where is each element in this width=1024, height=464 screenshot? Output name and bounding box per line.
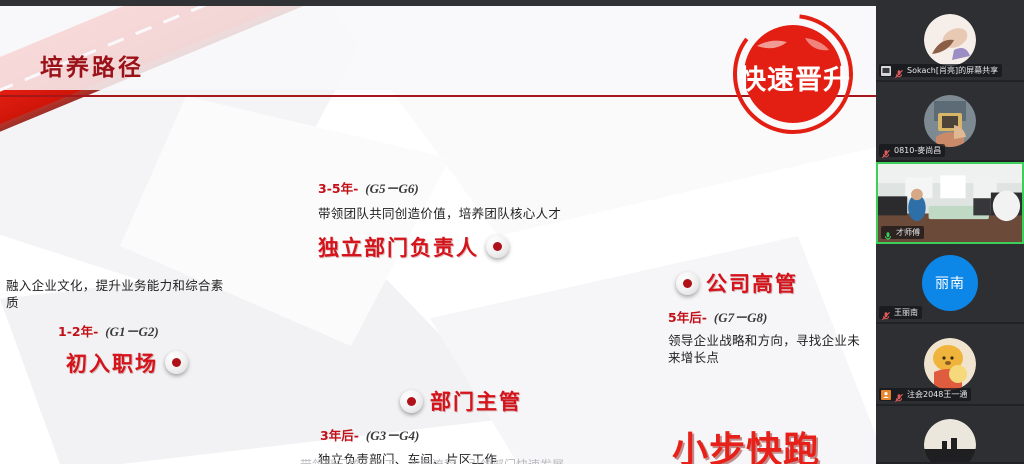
participant-namebar: Sokach[肖亮]的屏幕共享 <box>879 64 1002 77</box>
screen-share-icon <box>881 66 891 76</box>
milestone-title: 公司高管 <box>706 268 798 298</box>
stamp-label: 快速晋升 <box>736 58 854 97</box>
participant-namebar: 0810-麥尚昌 <box>879 144 945 157</box>
cutoff-text: 带领部门核心员工，改善流程，引领部门快速发展 <box>300 456 720 464</box>
host-icon <box>881 390 891 400</box>
mic-muted-icon <box>881 146 891 156</box>
milestone-dot-icon <box>486 235 509 258</box>
participant-namebar: 才师傅 <box>881 226 924 239</box>
avatar <box>924 419 976 464</box>
avatar <box>924 95 976 147</box>
avatar <box>924 338 976 390</box>
participant-tile[interactable]: 丽南 王丽南 <box>876 244 1024 324</box>
rapid-promotion-stamp: 快速晋升 <box>727 12 859 144</box>
milestone-grade: (G5－G6) <box>365 178 418 197</box>
mic-muted-icon <box>881 308 891 318</box>
milestone-executive: 公司高管 5年后- (G7－G8) 领导企业战略和方向，寻找企业未来增长点 <box>668 268 864 367</box>
milestone-dept-head: 3-5年- (G5－G6) 带领团队共同创造价值，培养团队核心人才 独立部门负责… <box>318 178 561 262</box>
milestone-grade: (G3－G4) <box>366 425 419 444</box>
mic-muted-icon <box>894 390 904 400</box>
page-title: 培养路径 <box>40 48 144 82</box>
milestone-dot-icon <box>165 351 188 374</box>
participant-tile[interactable] <box>876 406 1024 464</box>
milestone-description: 融入企业文化，提升业务能力和综合素质 <box>6 278 228 312</box>
participant-name: 才师傅 <box>896 227 920 238</box>
milestone-grade: (G7－G8) <box>714 307 767 326</box>
participant-tile[interactable]: Sokach[肖亮]的屏幕共享 <box>876 0 1024 82</box>
milestone-title: 部门主管 <box>430 386 522 416</box>
milestone-supervisor: 部门主管 3年后- (G3－G4) 独立负责部门、车间、片区工作 <box>296 386 522 464</box>
shared-screen-area[interactable]: 培养路径 快速晋升 融入企业文化，提升业务能力和综合素质 1-2年- (G1 <box>0 0 876 464</box>
milestone-grade: (G1－G2) <box>105 321 158 340</box>
avatar <box>924 14 976 66</box>
participant-name: 0810-麥尚昌 <box>894 145 941 156</box>
milestone-years: 3年后- <box>320 425 359 444</box>
avatar-initial: 丽南 <box>922 255 978 311</box>
participant-name: Sokach[肖亮]的屏幕共享 <box>907 65 998 76</box>
participant-filmstrip[interactable]: Sokach[肖亮]的屏幕共享 <box>876 0 1024 464</box>
screen-share-meeting-window: 培养路径 快速晋升 融入企业文化，提升业务能力和综合素质 1-2年- (G1 <box>0 0 1024 464</box>
milestone-years: 5年后- <box>668 307 707 326</box>
mic-on-icon <box>883 228 893 238</box>
milestone-dot-icon <box>676 272 699 295</box>
milestone-description: 带领团队共同创造价值，培养团队核心人才 <box>318 206 561 223</box>
participant-name: 注会2048王一通 <box>907 389 967 400</box>
mic-muted-icon <box>894 66 904 76</box>
milestone-entry: 融入企业文化，提升业务能力和综合素质 1-2年- (G1－G2) 初入职场 <box>6 278 228 378</box>
participant-namebar: 王丽南 <box>879 306 922 319</box>
participant-tile-active-speaker[interactable]: 才师傅 <box>876 162 1024 244</box>
milestone-description: 领导企业战略和方向，寻找企业未来增长点 <box>668 333 864 367</box>
participant-namebar: 注会2048王一通 <box>879 388 971 401</box>
milestone-title: 独立部门负责人 <box>318 232 479 262</box>
milestone-title: 初入职场 <box>66 348 158 378</box>
participant-name: 王丽南 <box>894 307 918 318</box>
milestone-years: 3-5年- <box>318 178 358 197</box>
milestone-dot-icon <box>400 390 423 413</box>
presentation-slide: 培养路径 快速晋升 融入企业文化，提升业务能力和综合素质 1-2年- (G1 <box>0 6 876 464</box>
participant-tile[interactable]: 注会2048王一通 <box>876 324 1024 406</box>
participant-tile[interactable]: 0810-麥尚昌 <box>876 82 1024 162</box>
milestone-years: 1-2年- <box>58 321 98 340</box>
